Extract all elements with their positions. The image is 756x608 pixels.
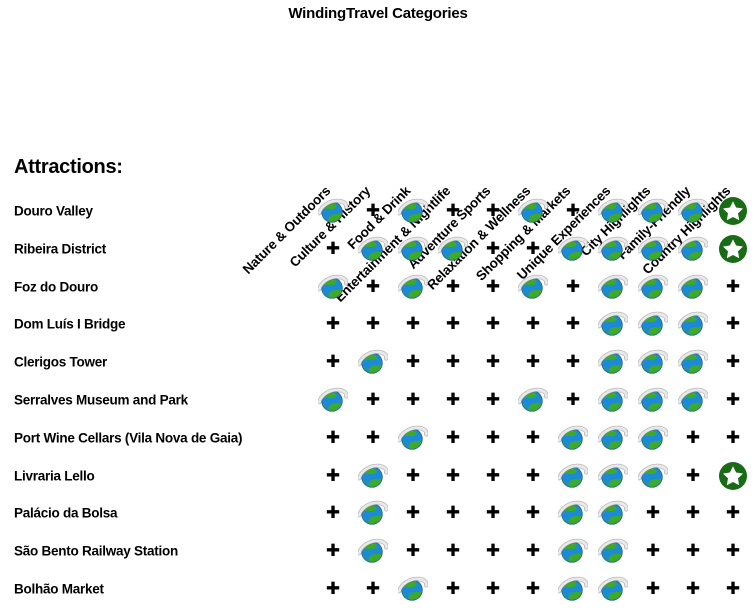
plus-icon: ✚ (406, 468, 420, 485)
plus-icon: ✚ (406, 316, 420, 333)
matrix-cell[interactable] (676, 345, 710, 379)
matrix-cell[interactable]: ✚ (476, 307, 510, 341)
matrix-cell[interactable] (596, 232, 630, 266)
matrix-cell[interactable]: ✚ (356, 307, 390, 341)
globe-planet-icon (558, 462, 588, 490)
matrix-cell[interactable]: ✚ (396, 345, 430, 379)
globe-planet-icon (638, 310, 668, 338)
plus-icon: ✚ (366, 430, 380, 447)
globe-planet-icon (638, 348, 668, 376)
plus-icon: ✚ (326, 354, 340, 371)
row-label-9[interactable]: Palácio da Bolsa (14, 506, 117, 521)
matrix-cell[interactable] (676, 307, 710, 341)
matrix-cell[interactable] (716, 232, 750, 266)
matrix-cell[interactable]: ✚ (396, 496, 430, 530)
plus-icon: ✚ (446, 581, 460, 598)
plus-icon: ✚ (366, 279, 380, 296)
matrix-cell[interactable]: ✚ (316, 459, 350, 493)
plus-icon: ✚ (646, 543, 660, 560)
star-badge-icon (718, 196, 748, 226)
matrix-cell[interactable]: ✚ (636, 496, 670, 530)
plus-icon: ✚ (486, 505, 500, 522)
plus-icon: ✚ (686, 468, 700, 485)
plus-icon: ✚ (526, 581, 540, 598)
plus-icon: ✚ (486, 203, 500, 220)
globe-planet-icon (398, 575, 428, 603)
matrix-cell[interactable] (516, 383, 550, 417)
matrix-cell[interactable]: ✚ (436, 459, 470, 493)
plus-icon: ✚ (726, 505, 740, 522)
matrix-cell[interactable]: ✚ (716, 421, 750, 455)
matrix-cell[interactable]: ✚ (516, 572, 550, 606)
matrix-cell[interactable]: ✚ (556, 383, 590, 417)
plus-icon: ✚ (726, 543, 740, 560)
matrix-cell[interactable]: ✚ (676, 421, 710, 455)
globe-planet-icon (358, 235, 388, 263)
matrix-cell[interactable]: ✚ (316, 232, 350, 266)
plus-icon: ✚ (726, 430, 740, 447)
plus-icon: ✚ (646, 581, 660, 598)
matrix-cell[interactable]: ✚ (356, 383, 390, 417)
matrix-cell[interactable] (596, 421, 630, 455)
matrix-cell[interactable]: ✚ (316, 496, 350, 530)
plus-icon: ✚ (686, 505, 700, 522)
globe-planet-icon (558, 575, 588, 603)
matrix-cell[interactable]: ✚ (436, 307, 470, 341)
matrix-cell[interactable] (556, 572, 590, 606)
star-badge-icon (718, 234, 748, 264)
matrix-cell[interactable] (636, 421, 670, 455)
matrix-cell[interactable]: ✚ (356, 421, 390, 455)
matrix-cell[interactable] (516, 194, 550, 228)
matrix-cell[interactable]: ✚ (436, 383, 470, 417)
plus-icon: ✚ (526, 354, 540, 371)
matrix-cell[interactable] (556, 496, 590, 530)
matrix-cell[interactable]: ✚ (556, 270, 590, 304)
plus-icon: ✚ (446, 316, 460, 333)
globe-planet-icon (358, 348, 388, 376)
plus-icon: ✚ (486, 430, 500, 447)
plus-icon: ✚ (446, 505, 460, 522)
plus-icon: ✚ (526, 241, 540, 258)
row-label-5[interactable]: Clerigos Tower (14, 355, 107, 370)
globe-planet-icon (598, 537, 628, 565)
matrix-cell[interactable] (636, 194, 670, 228)
plus-icon: ✚ (486, 241, 500, 258)
plus-icon: ✚ (406, 505, 420, 522)
row-label-10[interactable]: São Bento Railway Station (14, 544, 178, 559)
matrix-cell[interactable]: ✚ (436, 421, 470, 455)
matrix-cell[interactable] (676, 270, 710, 304)
matrix-cell[interactable] (596, 345, 630, 379)
globe-planet-icon (398, 273, 428, 301)
globe-planet-icon (318, 197, 348, 225)
globe-planet-icon (598, 575, 628, 603)
matrix-cell[interactable] (396, 232, 430, 266)
plus-icon: ✚ (566, 316, 580, 333)
matrix-cell[interactable] (676, 232, 710, 266)
matrix-cell[interactable]: ✚ (716, 307, 750, 341)
plus-icon: ✚ (446, 203, 460, 220)
matrix-cell[interactable]: ✚ (516, 307, 550, 341)
matrix-cell[interactable]: ✚ (476, 232, 510, 266)
matrix-cell[interactable]: ✚ (356, 194, 390, 228)
matrix-cell[interactable] (676, 383, 710, 417)
matrix-cell[interactable]: ✚ (436, 534, 470, 568)
row-label-3[interactable]: Foz do Douro (14, 280, 98, 295)
globe-planet-icon (598, 424, 628, 452)
matrix-cell[interactable] (396, 194, 430, 228)
matrix-cell[interactable] (636, 270, 670, 304)
globe-planet-icon (358, 537, 388, 565)
plus-icon: ✚ (726, 279, 740, 296)
matrix-cell[interactable]: ✚ (476, 383, 510, 417)
plus-icon: ✚ (446, 430, 460, 447)
matrix-cell[interactable]: ✚ (716, 534, 750, 568)
globe-planet-icon (558, 537, 588, 565)
globe-planet-icon (358, 462, 388, 490)
matrix-cell[interactable] (436, 232, 470, 266)
row-label-4[interactable]: Dom Luís I Bridge (14, 317, 125, 332)
matrix-cell[interactable] (596, 194, 630, 228)
matrix-cell[interactable] (556, 459, 590, 493)
matrix-cell[interactable] (356, 459, 390, 493)
plus-icon: ✚ (566, 279, 580, 296)
matrix-cell[interactable]: ✚ (436, 496, 470, 530)
plus-icon: ✚ (406, 354, 420, 371)
matrix-cell[interactable] (396, 270, 430, 304)
matrix-cell[interactable]: ✚ (476, 270, 510, 304)
matrix-cell[interactable] (636, 307, 670, 341)
globe-planet-icon (398, 235, 428, 263)
matrix-cell[interactable]: ✚ (316, 345, 350, 379)
globe-planet-icon (518, 386, 548, 414)
globe-planet-icon (638, 235, 668, 263)
plus-icon: ✚ (486, 354, 500, 371)
matrix-cell[interactable] (636, 345, 670, 379)
matrix-cell[interactable] (636, 232, 670, 266)
plus-icon: ✚ (486, 581, 500, 598)
matrix-cell[interactable]: ✚ (396, 307, 430, 341)
matrix-cell[interactable]: ✚ (436, 345, 470, 379)
row-label-2[interactable]: Ribeira District (14, 242, 106, 257)
matrix-cell[interactable]: ✚ (556, 307, 590, 341)
matrix-cell[interactable] (396, 421, 430, 455)
globe-planet-icon (598, 386, 628, 414)
plus-icon: ✚ (686, 581, 700, 598)
plus-icon: ✚ (646, 505, 660, 522)
globe-planet-icon (638, 197, 668, 225)
plus-icon: ✚ (486, 543, 500, 560)
plus-icon: ✚ (726, 392, 740, 409)
plus-icon: ✚ (326, 316, 340, 333)
matrix-cell[interactable]: ✚ (716, 345, 750, 379)
plus-icon: ✚ (726, 316, 740, 333)
matrix-cell[interactable] (596, 270, 630, 304)
globe-planet-icon (678, 310, 708, 338)
matrix-cell[interactable]: ✚ (676, 496, 710, 530)
globe-planet-icon (598, 197, 628, 225)
matrix-cell[interactable]: ✚ (476, 345, 510, 379)
row-header-title: Attractions: (14, 156, 123, 179)
plus-icon: ✚ (486, 392, 500, 409)
matrix-cell[interactable] (636, 459, 670, 493)
matrix-cell[interactable]: ✚ (716, 270, 750, 304)
matrix-cell[interactable]: ✚ (396, 383, 430, 417)
matrix-cell[interactable]: ✚ (676, 572, 710, 606)
globe-planet-icon (598, 462, 628, 490)
matrix-cell[interactable]: ✚ (356, 572, 390, 606)
matrix-cell[interactable]: ✚ (476, 194, 510, 228)
matrix-cell[interactable]: ✚ (636, 534, 670, 568)
matrix-cell[interactable] (356, 534, 390, 568)
globe-planet-icon (398, 424, 428, 452)
plus-icon: ✚ (326, 241, 340, 258)
plus-icon: ✚ (326, 468, 340, 485)
matrix-cell[interactable] (316, 383, 350, 417)
plus-icon: ✚ (406, 543, 420, 560)
matrix-cell[interactable]: ✚ (716, 496, 750, 530)
matrix-cell[interactable]: ✚ (316, 534, 350, 568)
matrix-cell[interactable]: ✚ (316, 421, 350, 455)
plus-icon: ✚ (366, 316, 380, 333)
matrix-cell[interactable] (596, 496, 630, 530)
globe-planet-icon (638, 424, 668, 452)
plus-icon: ✚ (526, 430, 540, 447)
matrix-cell[interactable]: ✚ (356, 270, 390, 304)
globe-planet-icon (438, 235, 468, 263)
plus-icon: ✚ (326, 430, 340, 447)
matrix-cell[interactable]: ✚ (436, 194, 470, 228)
matrix-cell[interactable]: ✚ (396, 459, 430, 493)
matrix-cell[interactable]: ✚ (436, 572, 470, 606)
globe-planet-icon (678, 197, 708, 225)
matrix-cell[interactable]: ✚ (516, 421, 550, 455)
matrix-cell[interactable] (596, 572, 630, 606)
plus-icon: ✚ (686, 543, 700, 560)
globe-planet-icon (678, 273, 708, 301)
matrix-cell[interactable] (716, 459, 750, 493)
matrix-cell[interactable] (596, 307, 630, 341)
globe-planet-icon (558, 235, 588, 263)
matrix-cell[interactable]: ✚ (516, 496, 550, 530)
globe-planet-icon (598, 235, 628, 263)
row-label-11[interactable]: Bolhão Market (14, 582, 104, 597)
matrix-cell[interactable] (356, 232, 390, 266)
matrix-cell[interactable]: ✚ (476, 459, 510, 493)
matrix-cell[interactable]: ✚ (516, 534, 550, 568)
globe-planet-icon (518, 273, 548, 301)
plus-icon: ✚ (526, 543, 540, 560)
globe-planet-icon (318, 273, 348, 301)
plus-icon: ✚ (526, 316, 540, 333)
plus-icon: ✚ (486, 279, 500, 296)
matrix-cell[interactable]: ✚ (516, 459, 550, 493)
plus-icon: ✚ (486, 468, 500, 485)
matrix-cell[interactable]: ✚ (316, 572, 350, 606)
plus-icon: ✚ (406, 392, 420, 409)
plus-icon: ✚ (526, 468, 540, 485)
row-label-6[interactable]: Serralves Museum and Park (14, 393, 188, 408)
matrix-cell[interactable]: ✚ (476, 572, 510, 606)
matrix-cell[interactable]: ✚ (436, 270, 470, 304)
matrix-cell[interactable] (316, 270, 350, 304)
row-label-7[interactable]: Port Wine Cellars (Vila Nova de Gaia) (14, 431, 242, 446)
globe-planet-icon (558, 424, 588, 452)
matrix-cell[interactable]: ✚ (516, 232, 550, 266)
matrix-cell[interactable]: ✚ (476, 421, 510, 455)
plus-icon: ✚ (446, 468, 460, 485)
plus-icon: ✚ (366, 581, 380, 598)
plus-icon: ✚ (366, 392, 380, 409)
globe-planet-icon (638, 462, 668, 490)
plus-icon: ✚ (686, 430, 700, 447)
globe-planet-icon (518, 197, 548, 225)
globe-planet-icon (598, 273, 628, 301)
matrix-cell[interactable] (516, 270, 550, 304)
matrix-cell[interactable]: ✚ (716, 383, 750, 417)
globe-planet-icon (638, 386, 668, 414)
plus-icon: ✚ (566, 203, 580, 220)
row-label-1[interactable]: Douro Valley (14, 204, 93, 219)
plus-icon: ✚ (726, 581, 740, 598)
matrix-cell[interactable] (316, 194, 350, 228)
plus-icon: ✚ (446, 392, 460, 409)
globe-planet-icon (318, 386, 348, 414)
globe-planet-icon (558, 499, 588, 527)
plus-icon: ✚ (446, 279, 460, 296)
matrix-cell[interactable] (676, 194, 710, 228)
plus-icon: ✚ (326, 505, 340, 522)
globe-planet-icon (598, 348, 628, 376)
globe-planet-icon (678, 235, 708, 263)
matrix-cell[interactable] (556, 421, 590, 455)
matrix-cell[interactable]: ✚ (676, 459, 710, 493)
matrix-cell[interactable]: ✚ (516, 345, 550, 379)
matrix-cell[interactable]: ✚ (716, 572, 750, 606)
matrix-cell[interactable] (596, 534, 630, 568)
row-label-8[interactable]: Livraria Lello (14, 469, 95, 484)
matrix-cell[interactable] (716, 194, 750, 228)
globe-planet-icon (678, 386, 708, 414)
globe-planet-icon (678, 348, 708, 376)
globe-planet-icon (638, 273, 668, 301)
matrix-cell[interactable] (556, 232, 590, 266)
matrix-cell[interactable] (596, 383, 630, 417)
matrix-cell[interactable] (556, 534, 590, 568)
matrix-cell[interactable]: ✚ (556, 345, 590, 379)
globe-planet-icon (598, 499, 628, 527)
matrix-cell[interactable]: ✚ (476, 534, 510, 568)
plus-icon: ✚ (446, 354, 460, 371)
matrix-cell[interactable] (636, 383, 670, 417)
plus-icon: ✚ (366, 203, 380, 220)
plus-icon: ✚ (486, 316, 500, 333)
matrix-cell[interactable]: ✚ (396, 534, 430, 568)
plus-icon: ✚ (526, 505, 540, 522)
matrix-cell[interactable]: ✚ (676, 534, 710, 568)
plus-icon: ✚ (326, 543, 340, 560)
plus-icon: ✚ (566, 392, 580, 409)
plus-icon: ✚ (326, 581, 340, 598)
star-badge-icon (718, 461, 748, 491)
matrix-cell[interactable]: ✚ (316, 307, 350, 341)
matrix-cell[interactable] (396, 572, 430, 606)
matrix-cell[interactable] (356, 496, 390, 530)
matrix-cell[interactable]: ✚ (556, 194, 590, 228)
matrix-cell[interactable]: ✚ (476, 496, 510, 530)
globe-planet-icon (358, 499, 388, 527)
matrix-cell[interactable] (596, 459, 630, 493)
matrix-cell[interactable]: ✚ (636, 572, 670, 606)
globe-planet-icon (398, 197, 428, 225)
plus-icon: ✚ (726, 354, 740, 371)
globe-planet-icon (598, 310, 628, 338)
plus-icon: ✚ (446, 543, 460, 560)
plus-icon: ✚ (566, 354, 580, 371)
matrix-cell[interactable] (356, 345, 390, 379)
